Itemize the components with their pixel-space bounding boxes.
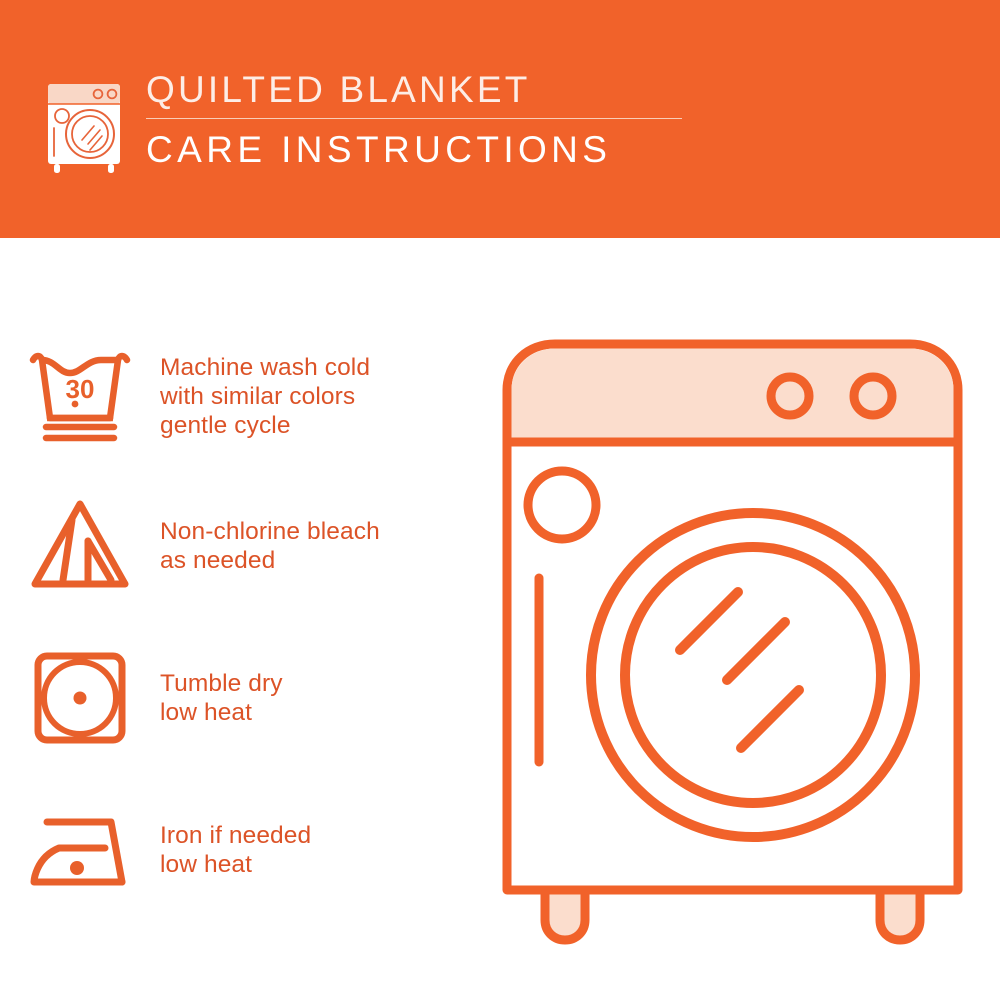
list-item: 30 Machine wash cold with similar colors…	[0, 336, 480, 456]
wash-temperature-label: 30	[66, 374, 95, 404]
control-panel	[512, 349, 954, 443]
title-divider	[146, 118, 682, 119]
header-text-block: QUILTED BLANKET CARE INSTRUCTIONS	[146, 68, 746, 172]
leg-left	[545, 890, 585, 940]
header-banner: QUILTED BLANKET CARE INSTRUCTIONS	[0, 0, 1000, 238]
page-subtitle: CARE INSTRUCTIONS	[146, 128, 746, 172]
wash-tub-gentle-cycle-icon: 30	[0, 346, 160, 446]
washing-machine-icon	[44, 66, 136, 174]
list-item-label: Machine wash cold with similar colors ge…	[160, 353, 370, 440]
care-symbol-list: 30 Machine wash cold with similar colors…	[0, 238, 500, 1000]
front-load-washing-machine-illustration	[495, 330, 970, 945]
list-item-label: Tumble dry low heat	[160, 669, 283, 727]
tumble-dry-low-heat-icon	[0, 648, 160, 748]
list-item-label: Non-chlorine bleach as needed	[160, 517, 380, 575]
list-item: Iron if needed low heat	[0, 790, 480, 910]
list-item: Non-chlorine bleach as needed	[0, 486, 480, 606]
page-title: QUILTED BLANKET	[146, 68, 746, 112]
leg-right	[880, 890, 920, 940]
care-instructions-infographic: QUILTED BLANKET CARE INSTRUCTIONS	[0, 0, 1000, 1000]
list-item: Tumble dry low heat	[0, 638, 480, 758]
iron-low-heat-icon	[0, 800, 160, 900]
triangle-non-chlorine-bleach-icon	[0, 496, 160, 596]
list-item-label: Iron if needed low heat	[160, 821, 311, 879]
